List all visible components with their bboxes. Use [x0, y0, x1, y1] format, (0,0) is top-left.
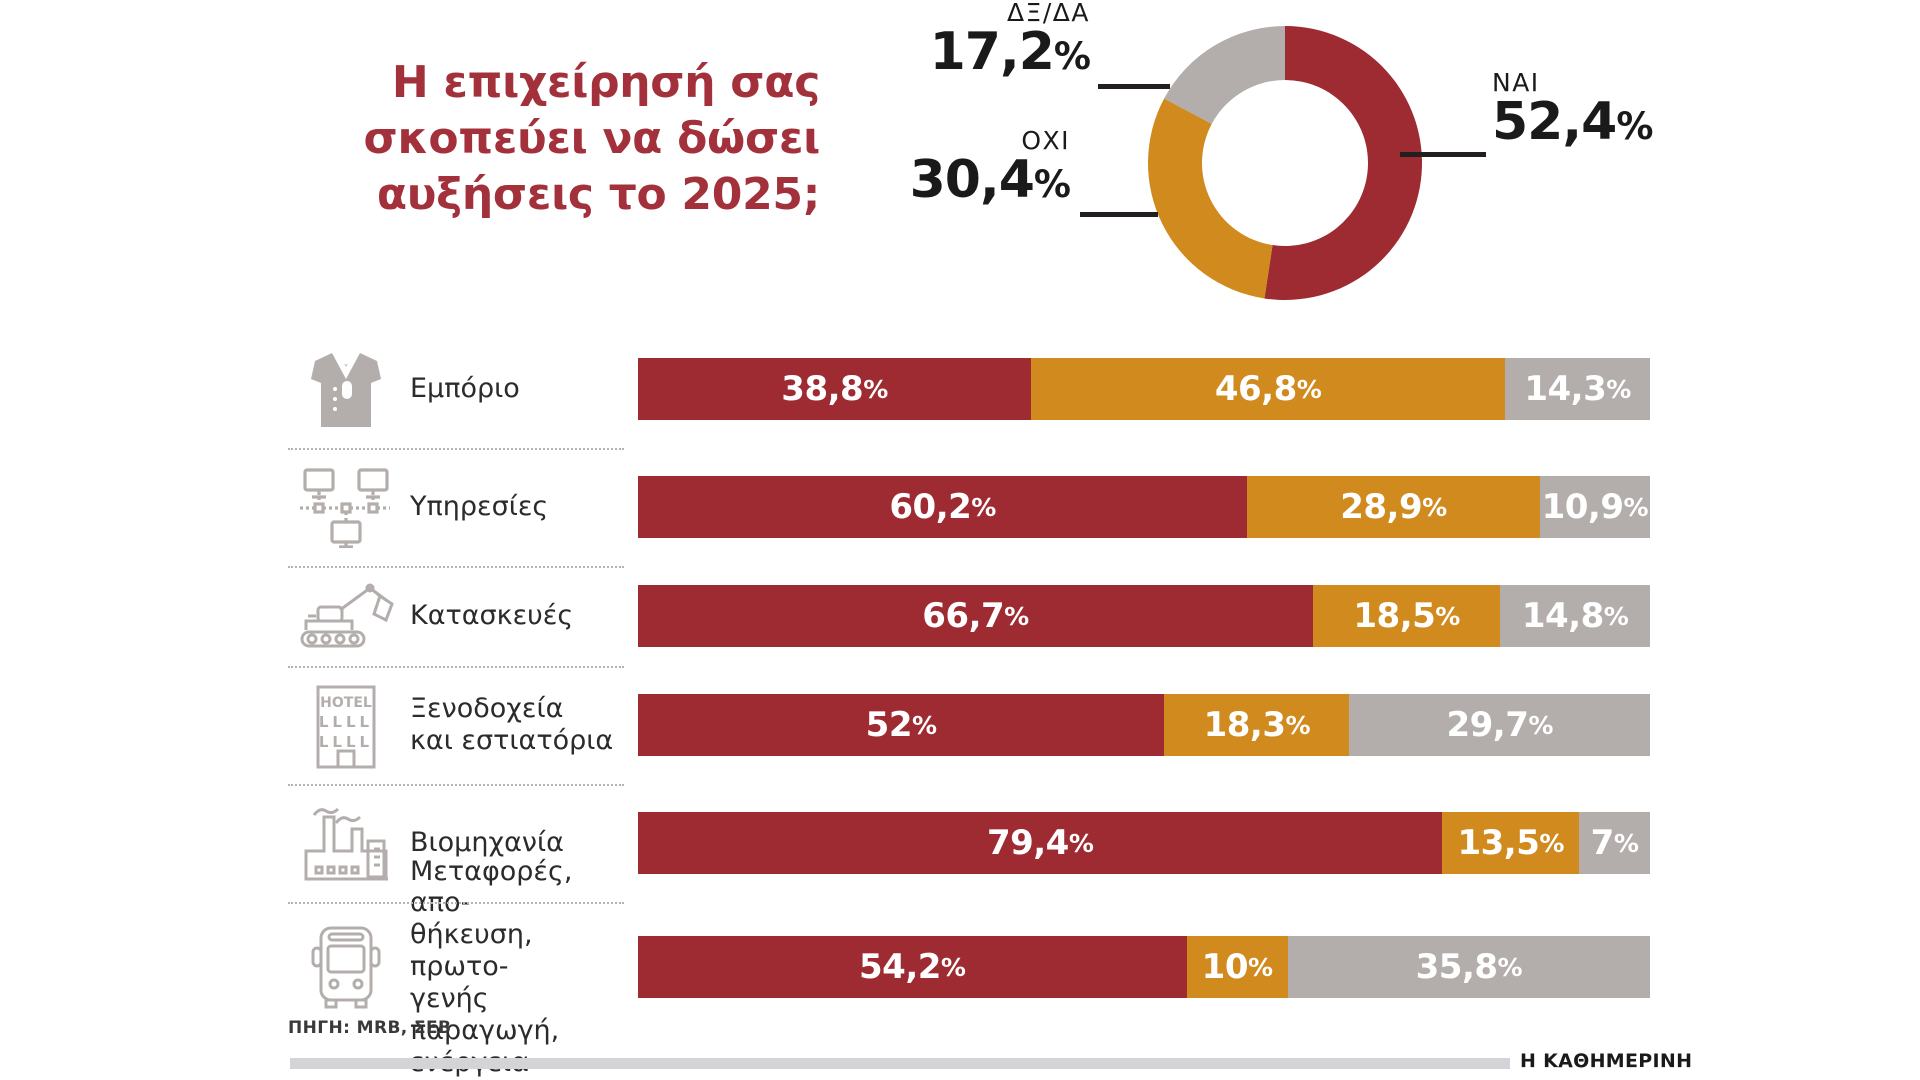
bar-segment-yes: 60,2% [638, 476, 1247, 538]
callout-leader-line-oxi [1080, 212, 1158, 217]
bus-icon [290, 922, 402, 1012]
bar-segment-number: 46,8 [1215, 369, 1297, 409]
bar-segment-percent-symbol: % [1069, 829, 1094, 858]
excavator-icon [290, 580, 402, 652]
donut-callout-pct-nai: % [1616, 105, 1652, 148]
category-label: Εμπόριο [402, 373, 620, 405]
category-label: Υπηρεσίες [402, 491, 620, 523]
bar-segment-dk: 14,8% [1500, 585, 1650, 647]
bar-segment-percent-symbol: % [1297, 375, 1322, 404]
donut-svg [1140, 18, 1430, 308]
table-row: Μεταφορές, απο-θήκευση, πρωτο-γενής παρα… [0, 902, 1920, 1032]
bar-segment-percent-symbol: % [863, 375, 888, 404]
bar-segment-percent-symbol: % [1624, 493, 1649, 522]
bar-segment-percent-symbol: % [1498, 953, 1523, 982]
bar-segment-yes: 66,7% [638, 585, 1313, 647]
callout-leader-line-nai [1400, 152, 1486, 157]
table-row: Υπηρεσίες60,2%28,9%10,9% [0, 448, 1920, 566]
bar-segment-yes: 38,8% [638, 358, 1031, 420]
svg-text:HOTEL: HOTEL [320, 695, 372, 711]
shirt-icon [290, 349, 402, 429]
stacked-bar: 54,2%10%35,8% [638, 936, 1650, 998]
callout-leader-line-dxda [1098, 84, 1170, 89]
row-divider [288, 448, 624, 450]
bar-segment-dk: 14,3% [1505, 358, 1650, 420]
bar-segment-dk: 7% [1579, 812, 1650, 874]
svg-text:LLLL: LLLL [319, 713, 373, 731]
bar-segment-number: 28,9 [1340, 487, 1422, 527]
donut-slice-oxi [1148, 99, 1273, 299]
bar-segment-percent-symbol: % [1422, 493, 1447, 522]
bar-segment-dk: 10,9% [1540, 476, 1650, 538]
category-label-line: και εστιατόρια [410, 725, 620, 757]
donut-callout-number-nai: 52,4 [1492, 92, 1616, 152]
bar-segment-no: 10% [1187, 936, 1288, 998]
bar-segment-number: 10 [1202, 947, 1248, 987]
bar-segment-percent-symbol: % [1248, 953, 1273, 982]
bar-segment-percent-symbol: % [971, 493, 996, 522]
category-label-line: Βιομηχανία [410, 827, 620, 859]
source-note: ΠΗΓΗ: MRB, ΣΕΒ [288, 1018, 451, 1038]
bar-segment-number: 52 [866, 705, 912, 745]
bar-segment-percent-symbol: % [1528, 711, 1553, 740]
hotel-icon: HOTEL LLLL LLLL [290, 681, 402, 769]
stacked-bar: 66,7%18,5%14,8% [638, 585, 1650, 647]
donut-callout-pct-dxda: % [1054, 35, 1090, 78]
category-label: Ξενοδοχείακαι εστιατόρια [402, 693, 620, 757]
network-computers-icon [290, 466, 402, 548]
row-divider [288, 902, 624, 904]
bar-segment-no: 18,5% [1313, 585, 1500, 647]
bar-segment-number: 18,5 [1353, 596, 1435, 636]
donut-callout-oxi: ΟΧΙ 30,4% [880, 128, 1070, 208]
category-label-line: Ξενοδοχεία [410, 693, 620, 725]
donut-callout-pct-oxi: % [1034, 163, 1070, 206]
bar-segment-number: 7 [1591, 823, 1614, 863]
donut-callout-value-nai: 52,4% [1492, 95, 1712, 150]
bar-segment-percent-symbol: % [1604, 602, 1629, 631]
bar-segment-percent-symbol: % [1614, 829, 1639, 858]
category-label: Μεταφορές, απο-θήκευση, πρωτο-γενής παρα… [402, 856, 620, 1079]
category-label: Κατασκευές [402, 600, 620, 632]
table-row: Βιομηχανία79,4%13,5%7% [0, 784, 1920, 902]
footer-divider [290, 1058, 1510, 1069]
donut-callout-number-oxi: 30,4 [910, 150, 1034, 210]
bar-segment-percent-symbol: % [1606, 375, 1631, 404]
category-label-line: θήκευση, πρωτο- [410, 919, 620, 983]
bar-segment-no: 28,9% [1247, 476, 1539, 538]
bar-segment-no: 46,8% [1031, 358, 1505, 420]
bar-segment-number: 35,8 [1416, 947, 1498, 987]
table-row: Εμπόριο38,8%46,8%14,3% [0, 330, 1920, 448]
category-label-line: Κατασκευές [410, 600, 620, 632]
row-divider [288, 784, 624, 786]
bar-segment-number: 10,9 [1542, 487, 1624, 527]
bar-segment-number: 60,2 [889, 487, 971, 527]
bar-segment-number: 79,4 [987, 823, 1069, 863]
category-label: Βιομηχανία [402, 827, 620, 859]
bar-segment-number: 13,5 [1457, 823, 1539, 863]
category-rows: Εμπόριο38,8%46,8%14,3% Υπηρεσίες60,2%28,… [0, 330, 1920, 1032]
stacked-bar: 60,2%28,9%10,9% [638, 476, 1650, 538]
bar-segment-percent-symbol: % [912, 711, 937, 740]
bar-segment-dk: 29,7% [1349, 694, 1650, 756]
svg-text:LLLL: LLLL [319, 733, 373, 751]
bar-segment-number: 14,8 [1522, 596, 1604, 636]
donut-slice-nai [1264, 26, 1422, 300]
bar-segment-number: 29,7 [1446, 705, 1528, 745]
header-section: Η επιχείρησή σας σκοπεύει να δώσει αυξήσ… [0, 0, 1920, 320]
bar-segment-percent-symbol: % [1286, 711, 1311, 740]
table-row: Κατασκευές66,7%18,5%14,8% [0, 566, 1920, 666]
table-row: HOTEL LLLL LLLL Ξενοδοχείακαι εστιατόρια… [0, 666, 1920, 784]
bar-segment-yes: 52% [638, 694, 1164, 756]
bar-segment-percent-symbol: % [1435, 602, 1460, 631]
bar-segment-percent-symbol: % [941, 953, 966, 982]
donut-callout-dxda: ΔΞ/ΔΑ 17,2% [900, 0, 1090, 80]
stacked-bar: 52%18,3%29,7% [638, 694, 1650, 756]
brand-logo: Η ΚΑΘΗΜΕΡΙΝΗ [1520, 1050, 1692, 1072]
bar-segment-number: 14,3 [1524, 369, 1606, 409]
row-divider [288, 666, 624, 668]
donut-callout-nai: ΝΑΙ 52,4% [1492, 70, 1712, 150]
donut-callout-number-dxda: 17,2 [930, 22, 1054, 82]
page-title: Η επιχείρησή σας σκοπεύει να δώσει αυξήσ… [300, 55, 820, 223]
category-label-line: Μεταφορές, απο- [410, 856, 620, 920]
bar-segment-number: 54,2 [859, 947, 941, 987]
bar-segment-no: 13,5% [1442, 812, 1579, 874]
donut-callout-value-oxi: 30,4% [880, 153, 1070, 208]
category-label-line: Εμπόριο [410, 373, 620, 405]
bar-segment-yes: 79,4% [638, 812, 1442, 874]
bar-segment-dk: 35,8% [1288, 936, 1650, 998]
bar-segment-number: 66,7 [922, 596, 1004, 636]
bar-segment-number: 38,8 [781, 369, 863, 409]
bar-segment-yes: 54,2% [638, 936, 1187, 998]
row-divider [288, 566, 624, 568]
category-label-line: Υπηρεσίες [410, 491, 620, 523]
stacked-bar: 38,8%46,8%14,3% [638, 358, 1650, 420]
bar-segment-no: 18,3% [1164, 694, 1349, 756]
bar-segment-number: 18,3 [1204, 705, 1286, 745]
bar-segment-percent-symbol: % [1539, 829, 1564, 858]
stacked-bar: 79,4%13,5%7% [638, 812, 1650, 874]
donut-chart [1140, 18, 1430, 308]
donut-callout-value-dxda: 17,2% [900, 25, 1090, 80]
bar-segment-percent-symbol: % [1004, 602, 1029, 631]
factory-icon [290, 801, 402, 885]
